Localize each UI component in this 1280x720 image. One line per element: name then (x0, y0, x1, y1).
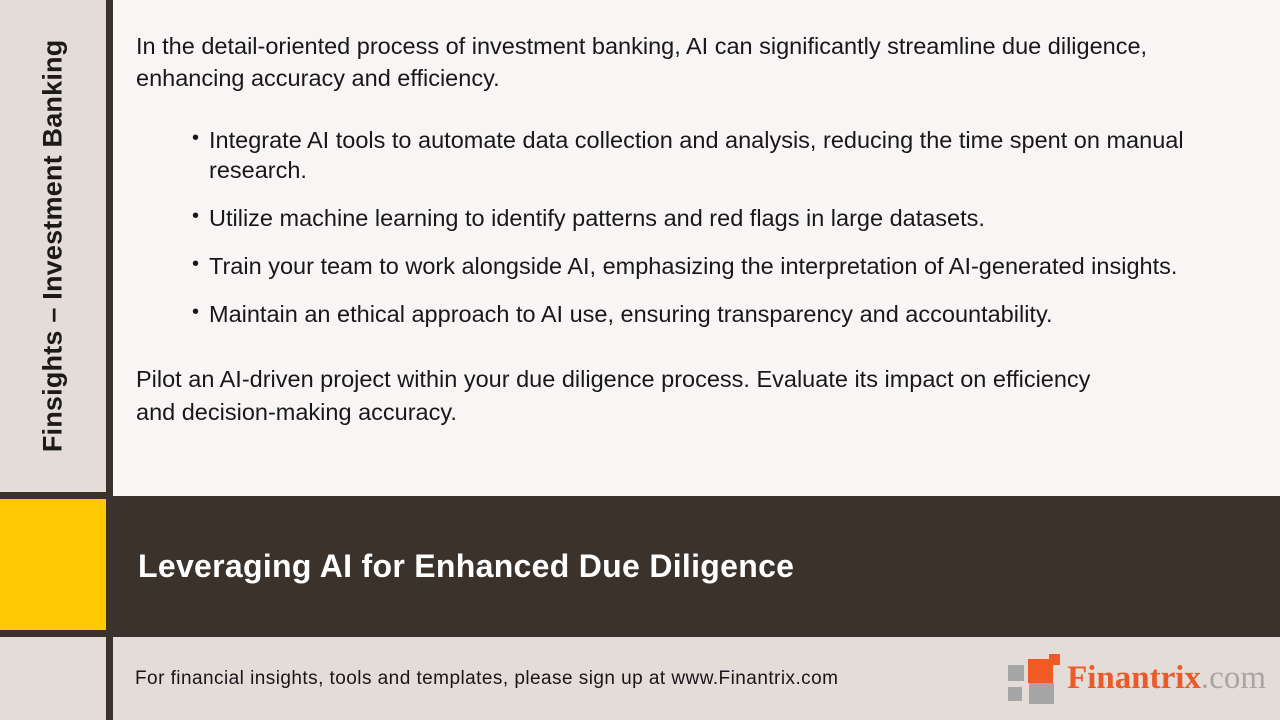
main-content-area: In the detail-oriented process of invest… (113, 0, 1280, 496)
logo-brand-text: Finantrix (1067, 660, 1201, 696)
list-item: • Integrate AI tools to automate data co… (136, 125, 1240, 185)
logo-square-grey-bottom-right (1029, 683, 1054, 704)
bullet-marker-icon: • (192, 203, 199, 229)
sidebar-vertical-title: Finsights – Investment Banking (36, 40, 70, 453)
finantrix-wordmark: Finantrix.com (1067, 662, 1266, 695)
list-item-text: Integrate AI tools to automate data coll… (209, 127, 1184, 183)
bullet-marker-icon: • (192, 251, 199, 277)
intro-paragraph: In the detail-oriented process of invest… (136, 30, 1221, 95)
sidebar-bottom-panel (0, 637, 106, 720)
bullet-marker-icon: • (192, 125, 199, 151)
list-item: • Utilize machine learning to identify p… (136, 203, 1240, 233)
logo-square-orange-small (1049, 654, 1060, 665)
finantrix-logo-mark-icon (1008, 654, 1060, 704)
list-item: • Train your team to work alongside AI, … (136, 251, 1240, 281)
list-item-text: Maintain an ethical approach to AI use, … (209, 301, 1052, 327)
logo-tld-text: .com (1201, 660, 1266, 696)
logo-square-grey-top-left (1008, 665, 1024, 681)
list-item-text: Utilize machine learning to identify pat… (209, 205, 985, 231)
list-item: • Maintain an ethical approach to AI use… (136, 299, 1240, 329)
bullet-marker-icon: • (192, 299, 199, 325)
footer-bar: For financial insights, tools and templa… (113, 637, 1280, 720)
accent-block-yellow (0, 498, 106, 630)
logo-square-grey-bottom-left (1008, 687, 1022, 701)
horizontal-divider-bottom (0, 630, 113, 637)
recommendation-bullet-list: • Integrate AI tools to automate data co… (136, 125, 1240, 329)
vertical-divider (106, 0, 113, 720)
sidebar-top-panel: Finsights – Investment Banking (0, 0, 106, 492)
sidebar-label-container: Finsights – Investment Banking (0, 0, 106, 492)
title-bar: Leveraging AI for Enhanced Due Diligence (113, 496, 1280, 637)
closing-paragraph: Pilot an AI-driven project within your d… (136, 363, 1136, 428)
finantrix-logo[interactable]: Finantrix.com (1008, 654, 1266, 704)
page-title: Leveraging AI for Enhanced Due Diligence (138, 548, 794, 585)
horizontal-divider-top (0, 492, 113, 499)
list-item-text: Train your team to work alongside AI, em… (209, 253, 1177, 279)
footer-signup-text: For financial insights, tools and templa… (135, 668, 1008, 690)
slide-root: Finsights – Investment Banking In the de… (0, 0, 1280, 720)
